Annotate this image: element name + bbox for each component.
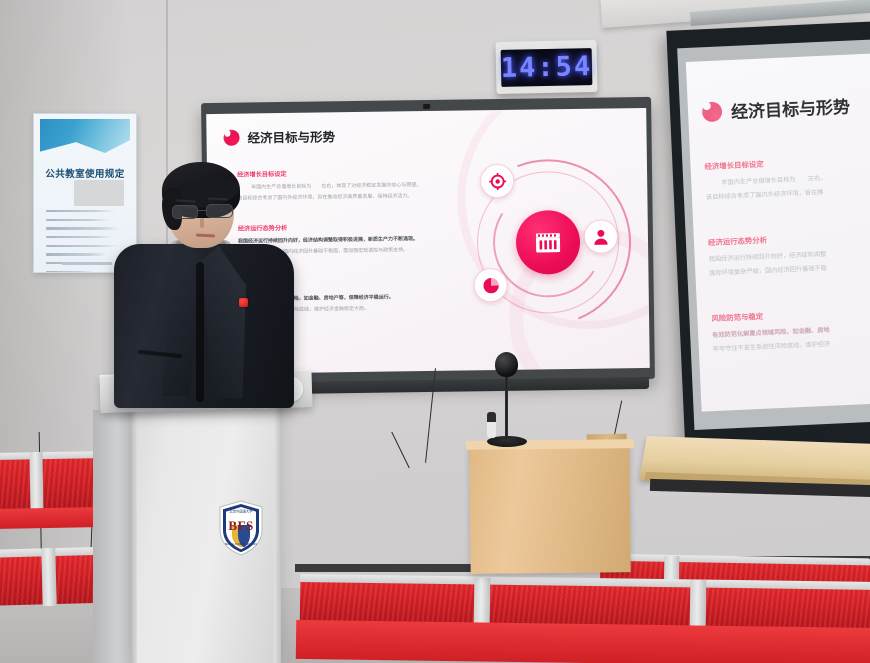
section-heading: 风险防范与稳定 — [711, 308, 829, 324]
projector-slide-header: 经济目标与形势 — [701, 93, 850, 125]
section-line: 我国经济运行持续回升向好，经济结构调整 — [709, 249, 827, 263]
handheld-microphone — [487, 412, 496, 438]
svg-text:BEIJING FOREIGN STUDIES: BEIJING FOREIGN STUDIES — [225, 543, 257, 546]
section-heading: 经济增长目标设定 — [704, 156, 826, 172]
microphone-head-icon — [495, 352, 518, 377]
classroom-scene: 公共教室使用规定 14:54 — [0, 0, 870, 663]
section-line: 国际环境复杂严峻，国内经济回升基础不稳 — [709, 263, 827, 277]
projector-section-1: 经济运行态势分析 我国经济运行持续回升向好，经济结构调整 国际环境复杂严峻，国内… — [708, 232, 827, 277]
presenter-jacket-opening — [196, 262, 204, 402]
presenter-nose — [200, 218, 204, 228]
bfs-emblem: 北京外国语大学 BFS BEIJING FOREIGN STUDIES — [218, 500, 264, 556]
seat-post-left — [29, 452, 43, 514]
presenter — [104, 140, 304, 408]
seat-surface-front — [296, 620, 870, 663]
camera-icon — [423, 104, 430, 109]
projector-surface: 经济目标与形势 经济增长目标设定 年国内生产总值增长目标为 左右， 该目标综合考… — [677, 39, 870, 430]
projector-slide: 经济目标与形势 经济增长目标设定 年国内生产总值增长目标为 左右， 该目标综合考… — [686, 53, 870, 412]
section-heading: 经济运行态势分析 — [708, 232, 826, 248]
lecture-desk — [469, 442, 630, 574]
section-line: 年国内生产总值增长目标为 左右， — [705, 173, 826, 187]
microphone-stem — [505, 368, 508, 440]
clock-time: 14:54 — [501, 51, 593, 84]
svg-text:BFS: BFS — [228, 518, 253, 533]
seat-post-front-2 — [690, 580, 707, 632]
section-line: 该目标综合考虑了国内外经济环境，旨在推 — [706, 187, 827, 201]
party-pin-badge — [239, 298, 248, 307]
seat-post-left-2 — [41, 548, 57, 606]
projector-section-2: 风险防范与稳定 有效防范化解重点领域风险，如金融、房地 牢牢守住不发生系统性风险… — [711, 308, 830, 353]
infographic — [462, 156, 634, 328]
svg-text:北京外国语大学: 北京外国语大学 — [229, 509, 253, 514]
projector-screen: 经济目标与形势 经济增长目标设定 年国内生产总值增长目标为 左右， 该目标综合考… — [666, 22, 870, 461]
section-line: 有效防范化解重点领域风险，如金融、房地 — [712, 325, 830, 339]
projector-section-0: 经济增长目标设定 年国内生产总值增长目标为 左右， 该目标综合考虑了国内外经济环… — [704, 156, 827, 201]
section-line: 牢牢守住不发生系统性风险底线，维护经济 — [713, 339, 831, 353]
clock-face: 14:54 — [501, 48, 593, 87]
podium-side-panel — [93, 410, 133, 663]
projector-slide-logo-icon — [702, 101, 723, 122]
digital-wall-clock: 14:54 — [495, 40, 597, 94]
projector-slide-title: 经济目标与形势 — [730, 93, 850, 123]
baseboard-mid — [295, 564, 475, 572]
